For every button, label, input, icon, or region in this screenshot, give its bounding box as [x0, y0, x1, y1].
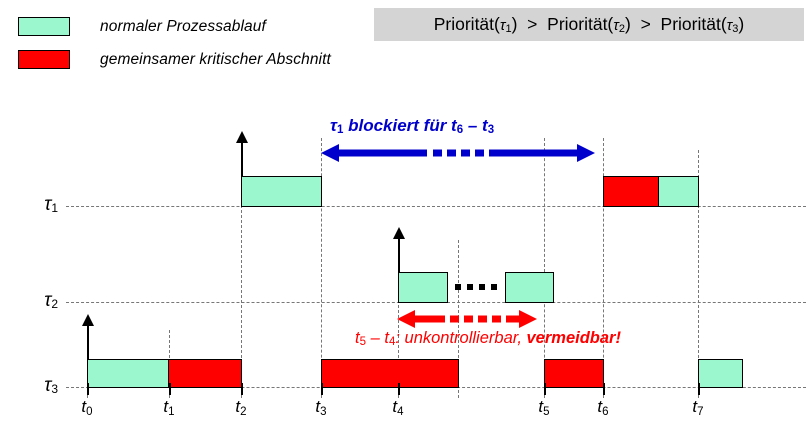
tick-mark-t1: [169, 383, 171, 395]
task-label-tau1: τ1: [16, 194, 58, 216]
task-label-tau2: τ2: [16, 290, 58, 312]
tick-label-t1: t1: [149, 397, 189, 418]
tick-label-t0: t0: [67, 397, 107, 418]
tick-label-t4: t4: [378, 397, 418, 418]
tick-label-t3: t3: [301, 397, 341, 418]
tick-label-t6: t6: [583, 397, 623, 418]
tick-mark-t5: [544, 383, 546, 395]
continuation-dots-tau2: [455, 284, 497, 290]
block-tau3-critical-1: [168, 359, 242, 388]
annotation-blocking-arrow: [313, 138, 613, 168]
tick-label-t5: t5: [524, 397, 564, 418]
tick-mark-t0: [87, 383, 89, 395]
annotation-uncontrollable-emphasis: vermeidbar!: [527, 329, 621, 347]
block-tau1-normal-2: [658, 176, 699, 207]
block-tau3-critical-2: [321, 359, 459, 388]
block-tau3-critical-3: [544, 359, 604, 388]
block-tau3-normal-1: [87, 359, 169, 388]
task-label-tau3: τ3: [16, 375, 58, 397]
timing-diagram: τ1 τ2 τ3: [0, 0, 812, 432]
block-tau3-normal-2: [698, 359, 743, 388]
diagram-canvas: normaler Prozessablauf gemeinsamer kriti…: [0, 0, 812, 432]
tick-mark-t7: [698, 383, 700, 395]
block-tau1-normal-1: [241, 176, 322, 207]
block-tau1-critical-1: [603, 176, 659, 207]
tick-mark-t2: [241, 383, 243, 395]
block-tau2-normal-1: [398, 272, 448, 303]
annotation-uncontrollable-label: t5 – t4: unkontrollierbar, vermeidbar!: [355, 329, 621, 348]
tick-label-t7: t7: [678, 397, 718, 418]
annotation-blocking-label: τ1 blockiert für t6 – t3: [330, 116, 494, 136]
annotation-uncontrollable-text: t5 – t4: unkontrollierbar,: [355, 329, 527, 347]
tick-mark-t6: [603, 383, 605, 395]
tick-mark-t3: [321, 383, 323, 395]
block-tau2-normal-2: [505, 272, 554, 303]
tick-label-t2: t2: [221, 397, 261, 418]
tick-mark-t4: [398, 383, 400, 395]
